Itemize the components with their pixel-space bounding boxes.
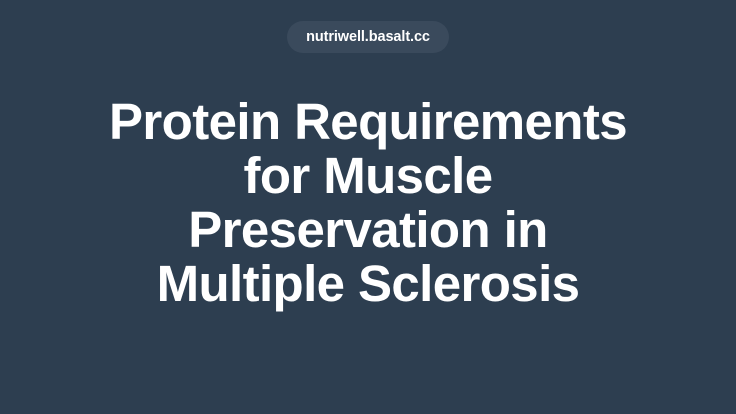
title-line-3: Preservation in (0, 203, 736, 257)
title-line-4: Multiple Sclerosis (0, 257, 736, 311)
title-line-2: for Muscle (0, 149, 736, 203)
title-line-1: Protein Requirements (0, 95, 736, 149)
page-title: Protein Requirements for Muscle Preserva… (0, 95, 736, 311)
url-pill[interactable]: nutriwell.basalt.cc (287, 21, 449, 53)
url-bar: nutriwell.basalt.cc (0, 21, 736, 53)
title-slide: nutriwell.basalt.cc Protein Requirements… (0, 0, 736, 414)
